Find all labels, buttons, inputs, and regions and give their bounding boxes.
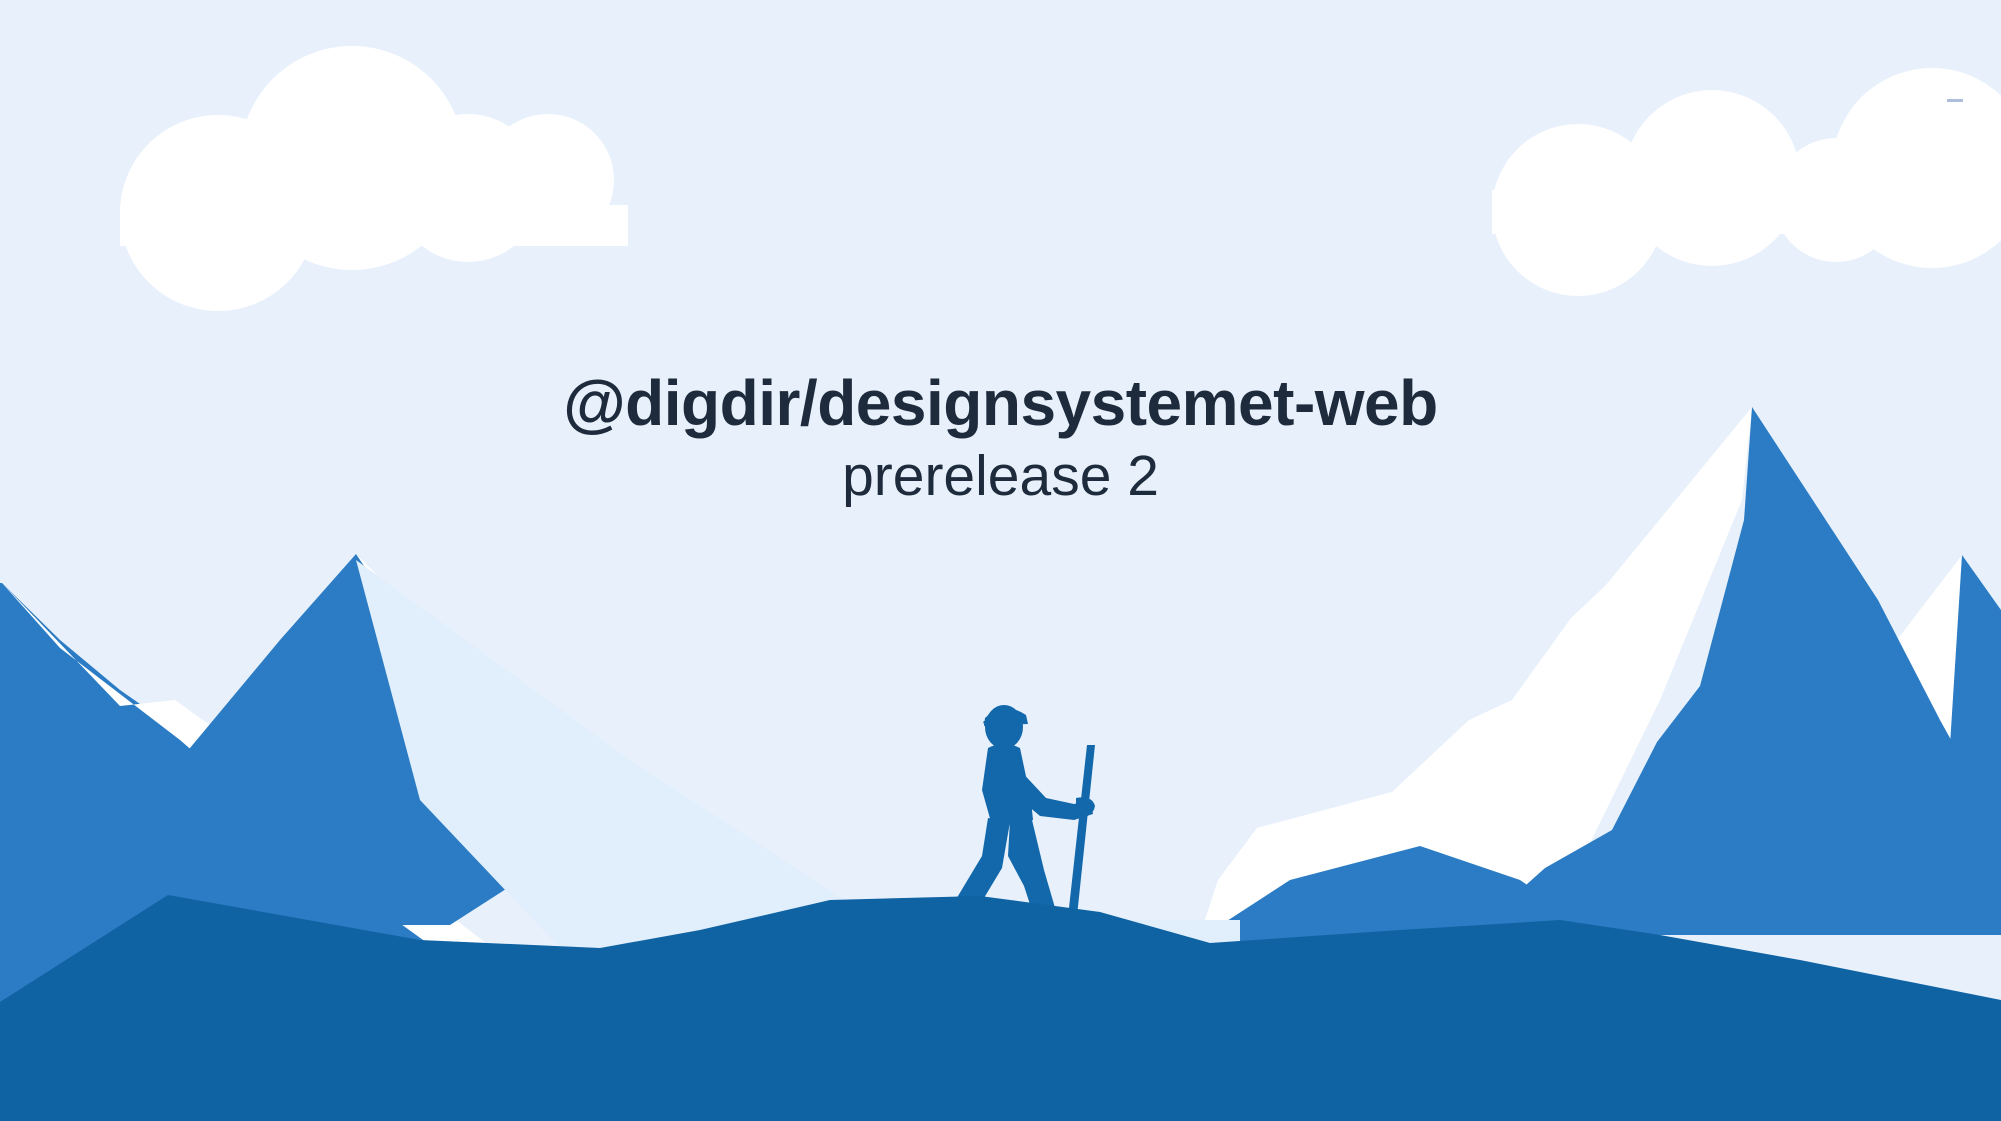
corner-mark-icon (1947, 99, 1963, 102)
release-social-card: @digdir/designsystemet-web prerelease 2 (0, 0, 2001, 1121)
mountain-landscape-illustration (0, 0, 2001, 1121)
